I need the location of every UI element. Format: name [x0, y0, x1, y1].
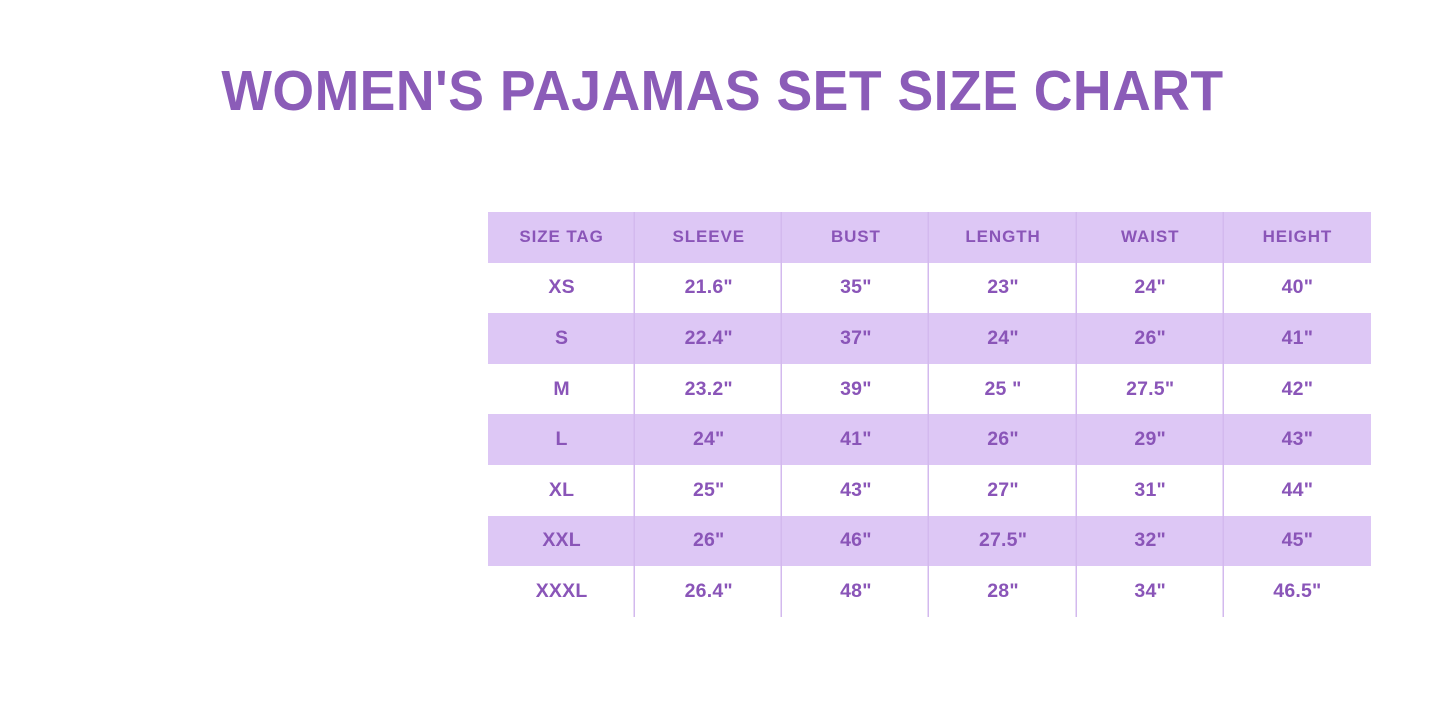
- cell-size-tag: XXXL: [488, 566, 635, 617]
- cell-sleeve: 25": [635, 465, 782, 516]
- cell-length: 25 ": [929, 364, 1076, 415]
- cell-waist: 34": [1077, 566, 1224, 617]
- cell-waist: 31": [1077, 465, 1224, 516]
- table-row: S 22.4" 37" 24" 26" 41": [488, 313, 1371, 364]
- cell-bust: 48": [782, 566, 929, 617]
- cell-size-tag: S: [488, 313, 635, 364]
- cell-bust: 39": [782, 364, 929, 415]
- table-header-row: SIZE TAG SLEEVE BUST LENGTH WAIST HEIGHT: [488, 212, 1371, 263]
- size-chart-table-container: SIZE TAG SLEEVE BUST LENGTH WAIST HEIGHT…: [488, 212, 1371, 618]
- column-header-height: HEIGHT: [1224, 212, 1371, 263]
- cell-bust: 41": [782, 414, 929, 465]
- cell-waist: 32": [1077, 516, 1224, 567]
- table-row: L 24" 41" 26" 29" 43": [488, 414, 1371, 465]
- table-body: XS 21.6" 35" 23" 24" 40" S 22.4" 37" 24"…: [488, 263, 1371, 617]
- cell-length: 28": [929, 566, 1076, 617]
- cell-bust: 43": [782, 465, 929, 516]
- cell-height: 43": [1224, 414, 1371, 465]
- cell-waist: 26": [1077, 313, 1224, 364]
- cell-height: 44": [1224, 465, 1371, 516]
- size-chart-page: WOMEN'S PAJAMAS SET SIZE CHART SIZE TAG …: [0, 0, 1445, 723]
- cell-size-tag: L: [488, 414, 635, 465]
- cell-size-tag: XXL: [488, 516, 635, 567]
- cell-bust: 37": [782, 313, 929, 364]
- cell-length: 24": [929, 313, 1076, 364]
- cell-height: 41": [1224, 313, 1371, 364]
- cell-sleeve: 24": [635, 414, 782, 465]
- cell-height: 42": [1224, 364, 1371, 415]
- cell-length: 26": [929, 414, 1076, 465]
- cell-sleeve: 26.4": [635, 566, 782, 617]
- cell-size-tag: XS: [488, 263, 635, 314]
- cell-height: 46.5": [1224, 566, 1371, 617]
- table-row: XXXL 26.4" 48" 28" 34" 46.5": [488, 566, 1371, 617]
- size-chart-table: SIZE TAG SLEEVE BUST LENGTH WAIST HEIGHT…: [488, 212, 1371, 617]
- cell-bust: 46": [782, 516, 929, 567]
- table-row: XL 25" 43" 27" 31" 44": [488, 465, 1371, 516]
- cell-waist: 27.5": [1077, 364, 1224, 415]
- cell-length: 27": [929, 465, 1076, 516]
- page-title: WOMEN'S PAJAMAS SET SIZE CHART: [43, 58, 1401, 124]
- cell-size-tag: XL: [488, 465, 635, 516]
- cell-sleeve: 23.2": [635, 364, 782, 415]
- table-row: M 23.2" 39" 25 " 27.5" 42": [488, 364, 1371, 415]
- cell-sleeve: 22.4": [635, 313, 782, 364]
- column-header-waist: WAIST: [1077, 212, 1224, 263]
- column-header-size-tag: SIZE TAG: [488, 212, 635, 263]
- table-row: XS 21.6" 35" 23" 24" 40": [488, 263, 1371, 314]
- column-header-sleeve: SLEEVE: [635, 212, 782, 263]
- cell-height: 45": [1224, 516, 1371, 567]
- cell-sleeve: 21.6": [635, 263, 782, 314]
- table-row: XXL 26" 46" 27.5" 32" 45": [488, 516, 1371, 567]
- cell-waist: 29": [1077, 414, 1224, 465]
- table-header: SIZE TAG SLEEVE BUST LENGTH WAIST HEIGHT: [488, 212, 1371, 263]
- cell-size-tag: M: [488, 364, 635, 415]
- column-header-length: LENGTH: [929, 212, 1076, 263]
- cell-waist: 24": [1077, 263, 1224, 314]
- cell-height: 40": [1224, 263, 1371, 314]
- cell-sleeve: 26": [635, 516, 782, 567]
- column-header-bust: BUST: [782, 212, 929, 263]
- cell-length: 23": [929, 263, 1076, 314]
- cell-bust: 35": [782, 263, 929, 314]
- cell-length: 27.5": [929, 516, 1076, 567]
